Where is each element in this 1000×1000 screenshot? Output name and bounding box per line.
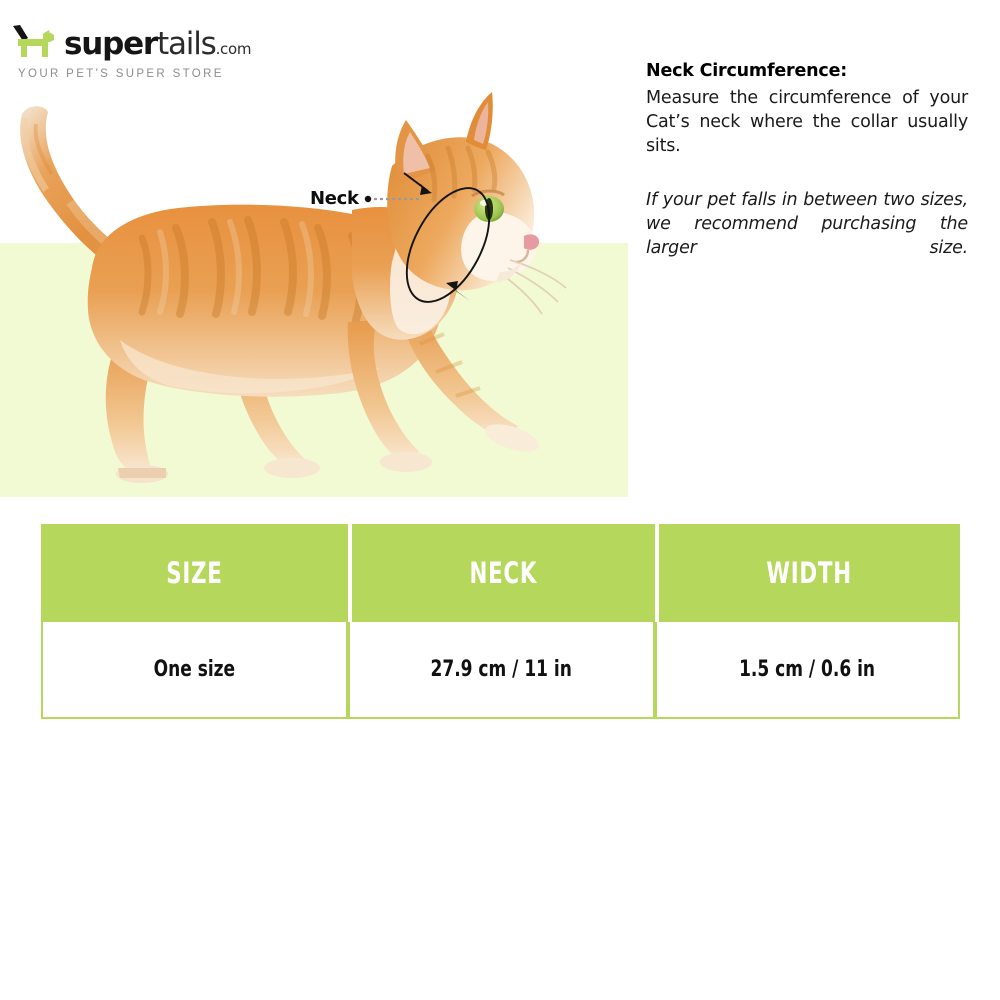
info-heading: Neck Circumference:: [646, 60, 968, 84]
table-header-size-label: SIZE: [166, 556, 222, 590]
table-header-neck-label: NECK: [470, 556, 538, 590]
table-cell-size-value: One size: [154, 657, 235, 682]
info-body-text: Measure the circumference of your Cat’s …: [646, 86, 968, 158]
wordmark-com: .com: [216, 40, 252, 58]
dog-silhouette-icon: [10, 24, 62, 64]
brand-logo[interactable]: supertails.com YOUR PET'S SUPER STORE: [10, 24, 260, 84]
wordmark-super: super: [64, 26, 157, 62]
table-cell-neck-value: 27.9 cm / 11 in: [431, 657, 572, 682]
table-cell-size: One size: [43, 622, 346, 719]
table-header-width-label: WIDTH: [767, 556, 853, 590]
table-cell-width: 1.5 cm / 0.6 in: [657, 622, 958, 719]
table-header-width: WIDTH: [659, 524, 960, 622]
table-cell-width-value: 1.5 cm / 0.6 in: [740, 657, 876, 682]
info-note-text: If your pet falls in between two sizes, …: [646, 188, 968, 260]
table-header-size: SIZE: [41, 524, 348, 622]
brand-wordmark: supertails.com: [64, 29, 251, 60]
wordmark-tails: tails: [157, 26, 216, 62]
neck-measure-loop-icon: [300, 155, 530, 305]
table-row: One size 27.9 cm / 11 in 1.5 cm / 0.6 in: [41, 622, 960, 719]
table-header-row: SIZE NECK WIDTH: [41, 524, 960, 622]
info-panel: Neck Circumference: Measure the circumfe…: [646, 60, 968, 260]
table-cell-neck: 27.9 cm / 11 in: [350, 622, 653, 719]
brand-tagline: YOUR PET'S SUPER STORE: [18, 68, 224, 80]
neck-measure-annotation: Neck: [300, 155, 530, 305]
table-header-neck: NECK: [352, 524, 655, 622]
size-chart-table: SIZE NECK WIDTH One size 27.9 cm / 11 in: [41, 524, 960, 719]
table-right-edge: [958, 622, 960, 719]
size-chart-page: supertails.com YOUR PET'S SUPER STORE Ne…: [0, 0, 1000, 1000]
